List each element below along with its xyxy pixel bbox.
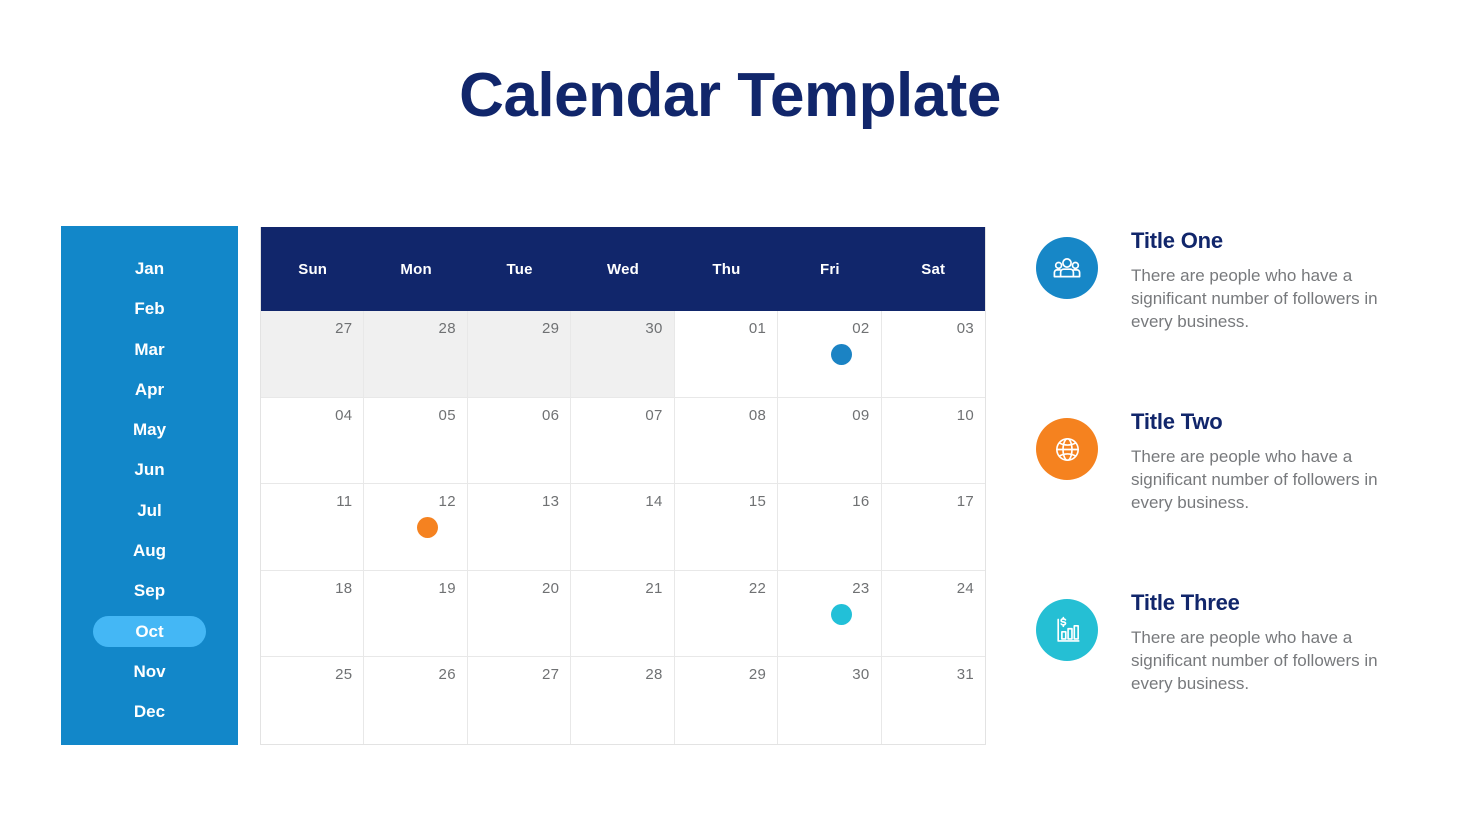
calendar-day-number: 08 bbox=[675, 407, 766, 424]
calendar-day-number: 14 bbox=[571, 493, 662, 510]
calendar-day-number: 24 bbox=[882, 580, 974, 597]
feature-text: Title TwoThere are people who have a sig… bbox=[1131, 409, 1426, 514]
globe-icon bbox=[1036, 418, 1098, 480]
calendar-day-number: 17 bbox=[882, 493, 974, 510]
calendar-day-number: 28 bbox=[364, 320, 455, 337]
calendar-day-number: 30 bbox=[778, 666, 869, 683]
calendar-cell[interactable]: 09 bbox=[778, 398, 881, 485]
month-item-may[interactable]: May bbox=[93, 414, 206, 445]
month-sidebar: JanFebMarAprMayJunJulAugSepOctNovDec bbox=[61, 226, 238, 745]
calendar-day-number: 28 bbox=[571, 666, 662, 683]
calendar-cell[interactable]: 06 bbox=[468, 398, 571, 485]
calendar-cell[interactable]: 08 bbox=[675, 398, 778, 485]
calendar-day-number: 18 bbox=[261, 580, 352, 597]
calendar-day-number: 30 bbox=[571, 320, 662, 337]
calendar-day-number: 20 bbox=[468, 580, 559, 597]
day-header-mon: Mon bbox=[364, 227, 467, 311]
calendar-cell[interactable]: 11 bbox=[261, 484, 364, 571]
calendar-day-number: 05 bbox=[364, 407, 455, 424]
calendar-cell[interactable]: 17 bbox=[882, 484, 985, 571]
calendar-cell[interactable]: 07 bbox=[571, 398, 674, 485]
calendar-cell[interactable]: 20 bbox=[468, 571, 571, 658]
calendar-day-number: 21 bbox=[571, 580, 662, 597]
feature-item: Title ThreeThere are people who have a s… bbox=[1036, 590, 1426, 700]
calendar-day-number: 09 bbox=[778, 407, 869, 424]
calendar-day-number: 06 bbox=[468, 407, 559, 424]
calendar-day-number: 02 bbox=[778, 320, 869, 337]
month-item-dec[interactable]: Dec bbox=[93, 696, 206, 727]
page-title: Calendar Template bbox=[0, 62, 1460, 130]
day-header-sun: Sun bbox=[261, 227, 364, 311]
slide-root: Calendar Template JanFebMarAprMayJunJulA… bbox=[0, 0, 1460, 821]
feature-title: Title Two bbox=[1131, 409, 1426, 435]
calendar-cell[interactable]: 30 bbox=[571, 311, 674, 398]
feature-title: Title Three bbox=[1131, 590, 1426, 616]
feature-text: Title ThreeThere are people who have a s… bbox=[1131, 590, 1426, 695]
calendar-cell[interactable]: 21 bbox=[571, 571, 674, 658]
calendar-cell[interactable]: 29 bbox=[675, 657, 778, 744]
calendar-cell[interactable]: 10 bbox=[882, 398, 985, 485]
calendar-cell[interactable]: 19 bbox=[364, 571, 467, 658]
calendar-cell[interactable]: 22 bbox=[675, 571, 778, 658]
calendar-day-number: 03 bbox=[882, 320, 974, 337]
calendar-day-number: 12 bbox=[364, 493, 455, 510]
calendar-day-number: 16 bbox=[778, 493, 869, 510]
feature-description: There are people who have a significant … bbox=[1131, 445, 1395, 514]
calendar-day-number: 25 bbox=[261, 666, 352, 683]
month-item-apr[interactable]: Apr bbox=[93, 374, 206, 405]
calendar-day-number: 29 bbox=[468, 320, 559, 337]
calendar-day-number: 27 bbox=[261, 320, 352, 337]
calendar-day-number: 11 bbox=[261, 493, 352, 510]
event-dot[interactable] bbox=[831, 604, 852, 625]
calendar-cell[interactable]: 24 bbox=[882, 571, 985, 658]
calendar-cell[interactable]: 02 bbox=[778, 311, 881, 398]
feature-item: Title TwoThere are people who have a sig… bbox=[1036, 409, 1426, 519]
event-dot[interactable] bbox=[417, 517, 438, 538]
calendar-cell[interactable]: 25 bbox=[261, 657, 364, 744]
calendar-day-number: 15 bbox=[675, 493, 766, 510]
month-item-aug[interactable]: Aug bbox=[93, 535, 206, 566]
feature-text: Title OneThere are people who have a sig… bbox=[1131, 228, 1426, 333]
calendar-cell[interactable]: 12 bbox=[364, 484, 467, 571]
calendar-cell[interactable]: 05 bbox=[364, 398, 467, 485]
calendar-cell[interactable]: 18 bbox=[261, 571, 364, 658]
month-item-jun[interactable]: Jun bbox=[93, 454, 206, 485]
calendar-cell[interactable]: 31 bbox=[882, 657, 985, 744]
event-dot[interactable] bbox=[831, 344, 852, 365]
calendar-cell[interactable]: 15 bbox=[675, 484, 778, 571]
calendar-cell[interactable]: 26 bbox=[364, 657, 467, 744]
month-item-nov[interactable]: Nov bbox=[93, 656, 206, 687]
calendar-grid: SunMonTueWedThuFriSat 272829300102030405… bbox=[260, 227, 986, 745]
calendar-cell[interactable]: 03 bbox=[882, 311, 985, 398]
day-header-tue: Tue bbox=[468, 227, 571, 311]
calendar-day-number: 29 bbox=[675, 666, 766, 683]
calendar-day-number: 26 bbox=[364, 666, 455, 683]
calendar-day-cells: 2728293001020304050607080910111213141516… bbox=[261, 311, 985, 744]
bar-chart-dollar-icon bbox=[1036, 599, 1098, 661]
feature-title: Title One bbox=[1131, 228, 1426, 254]
calendar-cell[interactable]: 01 bbox=[675, 311, 778, 398]
day-header-fri: Fri bbox=[778, 227, 881, 311]
calendar-day-number: 23 bbox=[778, 580, 869, 597]
calendar-day-number: 27 bbox=[468, 666, 559, 683]
calendar-day-number: 31 bbox=[882, 666, 974, 683]
calendar-cell[interactable]: 14 bbox=[571, 484, 674, 571]
calendar-day-number: 01 bbox=[675, 320, 766, 337]
day-header-thu: Thu bbox=[675, 227, 778, 311]
day-header-wed: Wed bbox=[571, 227, 674, 311]
calendar-cell[interactable]: 16 bbox=[778, 484, 881, 571]
calendar-day-header-row: SunMonTueWedThuFriSat bbox=[261, 227, 985, 311]
calendar-cell[interactable]: 04 bbox=[261, 398, 364, 485]
feature-item: Title OneThere are people who have a sig… bbox=[1036, 228, 1426, 338]
month-item-feb[interactable]: Feb bbox=[93, 293, 206, 324]
calendar-cell[interactable]: 23 bbox=[778, 571, 881, 658]
calendar-day-number: 04 bbox=[261, 407, 352, 424]
calendar-cell[interactable]: 13 bbox=[468, 484, 571, 571]
calendar-day-number: 07 bbox=[571, 407, 662, 424]
calendar-day-number: 19 bbox=[364, 580, 455, 597]
feature-description: There are people who have a significant … bbox=[1131, 626, 1395, 695]
calendar-cell[interactable]: 29 bbox=[468, 311, 571, 398]
month-item-mar[interactable]: Mar bbox=[93, 334, 206, 365]
calendar-day-number: 10 bbox=[882, 407, 974, 424]
calendar-cell[interactable]: 28 bbox=[571, 657, 674, 744]
day-header-sat: Sat bbox=[882, 227, 985, 311]
calendar-cell[interactable]: 28 bbox=[364, 311, 467, 398]
month-item-jul[interactable]: Jul bbox=[93, 495, 206, 526]
people-group-icon bbox=[1036, 237, 1098, 299]
calendar-day-number: 13 bbox=[468, 493, 559, 510]
month-item-jan[interactable]: Jan bbox=[93, 253, 206, 284]
month-item-sep[interactable]: Sep bbox=[93, 575, 206, 606]
feature-description: There are people who have a significant … bbox=[1131, 264, 1395, 333]
month-item-oct[interactable]: Oct bbox=[93, 616, 206, 647]
calendar-cell[interactable]: 27 bbox=[468, 657, 571, 744]
calendar-day-number: 22 bbox=[675, 580, 766, 597]
calendar-cell[interactable]: 27 bbox=[261, 311, 364, 398]
calendar-cell[interactable]: 30 bbox=[778, 657, 881, 744]
feature-list: Title OneThere are people who have a sig… bbox=[1036, 228, 1426, 771]
